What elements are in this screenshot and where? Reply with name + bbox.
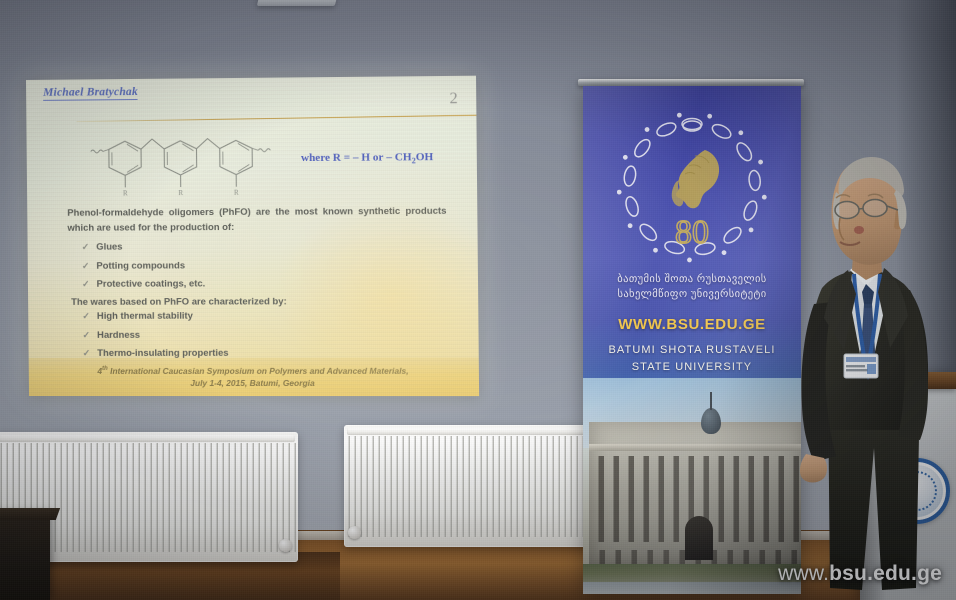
presenter-person xyxy=(770,118,956,600)
watermark: www.bsu.edu.ge xyxy=(778,562,942,586)
check-icon: ✓ xyxy=(82,312,90,321)
radiator-valve xyxy=(348,526,361,539)
svg-text:80: 80 xyxy=(675,214,709,251)
radiator-valve xyxy=(279,539,292,552)
slide-bullet-label: Thermo-insulating properties xyxy=(97,348,228,358)
check-icon: ✓ xyxy=(82,331,90,340)
bsu-rollup-banner: 80 ბათუმის შოთა რუსთაველის სახელმწიფო უნ… xyxy=(583,86,801,594)
where-r-prefix: where R = xyxy=(301,152,353,164)
watermark-domain: bsu.edu.ge xyxy=(829,562,942,585)
slide-bullet-label: Potting compounds xyxy=(96,260,185,270)
slide-footer-line-2: July 1-4, 2015, Batumi, Georgia xyxy=(190,377,314,390)
banner-university-name: BATUMI SHOTA RUSTAVELI STATE UNIVERSITY xyxy=(583,342,801,375)
slide-page-number: 2 xyxy=(449,90,457,108)
where-r-ch2oh: – CH2OH xyxy=(386,151,433,163)
ceiling-light-fixture xyxy=(257,0,337,6)
projected-slide: Michael Bratychak 2 xyxy=(26,76,479,396)
svg-text:R: R xyxy=(234,189,239,197)
slide-bullet-item: ✓ Protective coatings, etc. xyxy=(82,278,447,290)
where-r-or: or xyxy=(373,151,384,163)
university-emblem-icon: 80 xyxy=(617,108,767,266)
slide-bullet-item: ✓ High thermal stability xyxy=(82,310,447,321)
slide-bullet-label: Glues xyxy=(96,242,122,252)
slide-paragraph-2: The wares based on PhFO are characterize… xyxy=(71,296,447,307)
banner-georgian-name: ბათუმის შოთა რუსთაველის სახელმწიფო უნივე… xyxy=(583,272,801,302)
banner-top-rail xyxy=(578,79,804,86)
chemical-structure-icon: R R R xyxy=(89,126,281,198)
photo-road xyxy=(583,582,801,594)
banner-name-line-2: STATE UNIVERSITY xyxy=(583,359,801,376)
banner-website-url: WWW.BSU.EDU.GE xyxy=(583,316,801,333)
banner-georgian-line-1: ბათუმის შოთა რუსთაველის xyxy=(583,272,801,287)
slide-divider-rule xyxy=(76,115,476,122)
check-icon: ✓ xyxy=(82,243,90,252)
photo-building-entrance-arch xyxy=(685,516,713,560)
formula-substituent-note: where R = – H or – CH2OH xyxy=(301,151,433,166)
banner-name-line-1: BATUMI SHOTA RUSTAVELI xyxy=(583,342,801,359)
slide-bullet-label: Protective coatings, etc. xyxy=(97,278,206,288)
slide-author-name: Michael Bratychak xyxy=(43,86,138,101)
banner-building-photo xyxy=(583,378,801,594)
slide-footer-line-1: 4th International Caucasian Symposium on… xyxy=(97,364,408,377)
photo-building-dome xyxy=(694,392,728,442)
radiator-right xyxy=(344,425,590,547)
slide-footer: 4th International Caucasian Symposium on… xyxy=(29,358,479,397)
check-icon: ✓ xyxy=(82,261,90,270)
slide-bullet-item: ✓ Glues xyxy=(82,240,447,252)
slide-bullet-item: ✓ Potting compounds xyxy=(82,259,447,271)
slide-bullet-label: Hardness xyxy=(97,330,140,340)
slide-bullet-label: High thermal stability xyxy=(97,311,193,321)
slide-bullet-item: ✓ Hardness xyxy=(82,329,447,340)
footer-event-title: International Caucasian Symposium on Pol… xyxy=(108,365,409,375)
watermark-prefix: www. xyxy=(778,562,829,585)
photo-scene: Michael Bratychak 2 xyxy=(0,0,956,600)
check-icon: ✓ xyxy=(82,280,90,289)
slide-paragraph-1: Phenol-formaldehyde oligomers (PhFO) are… xyxy=(67,204,446,235)
where-r-h: – H xyxy=(353,151,370,163)
dark-wooden-table xyxy=(0,512,50,600)
svg-text:R: R xyxy=(178,189,183,197)
banner-georgian-line-2: სახელმწიფო უნივერსიტეტი xyxy=(583,287,801,302)
svg-text:R: R xyxy=(123,189,128,197)
dark-wooden-table-top xyxy=(0,508,60,520)
